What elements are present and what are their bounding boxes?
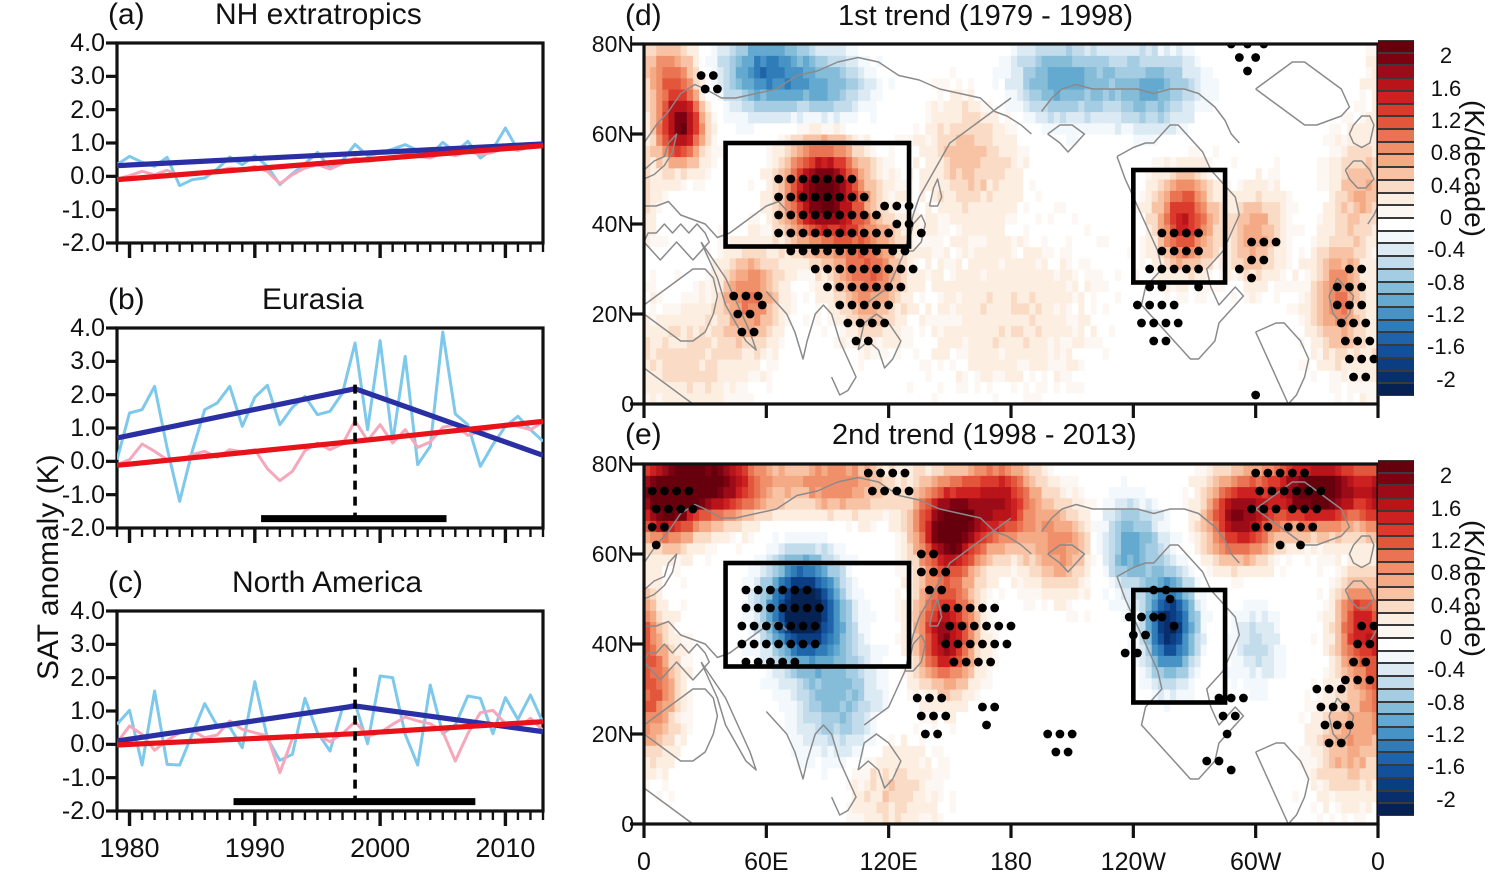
map-y-tick-label: 80N xyxy=(570,31,634,58)
colorbar-swatch xyxy=(1378,485,1414,498)
colorbar-swatch xyxy=(1378,332,1414,345)
colorbar-swatch xyxy=(1378,473,1414,486)
colorbar-swatch xyxy=(1378,371,1414,384)
y-tick-label: 3.0 xyxy=(30,347,105,376)
colorbar-swatch xyxy=(1378,562,1414,575)
colorbar-tick-label: 0 xyxy=(1424,625,1468,651)
map-y-tick-label: 60N xyxy=(570,541,634,568)
colorbar-tick-label: 1.2 xyxy=(1424,108,1468,134)
colorbar-swatch xyxy=(1378,65,1414,78)
y-tick-label: 2.0 xyxy=(30,664,105,693)
y-tick-label: -2.0 xyxy=(30,229,105,258)
panel-e-map xyxy=(600,450,1380,864)
map-x-tick-label: 60W xyxy=(1196,848,1316,877)
figure-root: SAT anomaly (K) (a) NH extratropics (b) … xyxy=(0,0,1501,864)
map-x-tick-label: 120E xyxy=(829,848,949,877)
colorbar-swatch xyxy=(1378,791,1414,804)
colorbar-tick-label: 1.6 xyxy=(1424,496,1468,522)
map-y-tick-label: 0 xyxy=(570,391,634,418)
colorbar-swatch xyxy=(1378,524,1414,537)
colorbar-swatch xyxy=(1378,282,1414,295)
map-y-tick-label: 20N xyxy=(570,301,634,328)
y-tick-label: 1.0 xyxy=(30,414,105,443)
y-tick-label: -1.0 xyxy=(30,196,105,225)
map-y-tick-label: 80N xyxy=(570,451,634,478)
colorbar-swatch xyxy=(1378,53,1414,66)
colorbar-swatch xyxy=(1378,511,1414,524)
colorbar-tick-label: -1.6 xyxy=(1424,754,1468,780)
colorbar-swatch xyxy=(1378,116,1414,129)
y-tick-label: -1.0 xyxy=(30,764,105,793)
y-tick-label: 2.0 xyxy=(30,381,105,410)
colorbar-swatch xyxy=(1378,256,1414,269)
panel-e-title: 2nd trend (1998 - 2013) xyxy=(832,419,1137,452)
colorbar-swatch xyxy=(1378,778,1414,791)
colorbar-tick-label: 1.6 xyxy=(1424,76,1468,102)
colorbar-swatch xyxy=(1378,358,1414,371)
colorbar-swatch xyxy=(1378,78,1414,91)
colorbar-swatch xyxy=(1378,167,1414,180)
colorbar-swatch xyxy=(1378,104,1414,117)
colorbar-swatch xyxy=(1378,180,1414,193)
colorbar-swatch xyxy=(1378,383,1414,396)
y-tick-label: 3.0 xyxy=(30,62,105,91)
colorbar-swatch xyxy=(1378,752,1414,765)
colorbar-tick-label: 0 xyxy=(1424,205,1468,231)
colorbar-swatch xyxy=(1378,40,1414,53)
y-tick-label: -1.0 xyxy=(30,481,105,510)
y-tick-label: 4.0 xyxy=(30,597,105,626)
colorbar-tick-label: 0.4 xyxy=(1424,173,1468,199)
y-tick-label: 0.0 xyxy=(30,730,105,759)
colorbar-swatch xyxy=(1378,549,1414,562)
colorbar-swatch xyxy=(1378,587,1414,600)
y-tick-label: 0.0 xyxy=(30,447,105,476)
y-tick-label: 4.0 xyxy=(30,314,105,343)
colorbar-swatch xyxy=(1378,205,1414,218)
x-tick-label: 2010 xyxy=(455,833,555,864)
colorbar-tick-label: -1.2 xyxy=(1424,302,1468,328)
x-tick-label: 1990 xyxy=(205,833,305,864)
colorbar-swatch xyxy=(1378,600,1414,613)
panel-e-colorbar xyxy=(1378,460,1414,816)
colorbar-swatch xyxy=(1378,269,1414,282)
colorbar-swatch xyxy=(1378,536,1414,549)
colorbar-tick-label: -2 xyxy=(1424,787,1468,813)
colorbar-swatch xyxy=(1378,307,1414,320)
colorbar-tick-label: -0.4 xyxy=(1424,237,1468,263)
colorbar-tick-label: 2 xyxy=(1424,43,1468,69)
map-x-tick-label: 0 xyxy=(584,848,704,877)
colorbar-tick-label: 2 xyxy=(1424,463,1468,489)
colorbar-swatch xyxy=(1378,702,1414,715)
y-tick-label: 2.0 xyxy=(30,96,105,125)
colorbar-swatch xyxy=(1378,663,1414,676)
colorbar-swatch xyxy=(1378,765,1414,778)
colorbar-swatch xyxy=(1378,651,1414,664)
colorbar-tick-label: 0.8 xyxy=(1424,140,1468,166)
panel-e-tag: (e) xyxy=(625,418,662,452)
colorbar-tick-label: -1.2 xyxy=(1424,722,1468,748)
x-tick-label: 2000 xyxy=(330,833,430,864)
colorbar-swatch xyxy=(1378,689,1414,702)
colorbar-swatch xyxy=(1378,676,1414,689)
panel-d-colorbar xyxy=(1378,40,1414,396)
colorbar-swatch xyxy=(1378,727,1414,740)
colorbar-swatch xyxy=(1378,142,1414,155)
colorbar-swatch xyxy=(1378,218,1414,231)
colorbar-swatch xyxy=(1378,320,1414,333)
y-tick-label: 3.0 xyxy=(30,630,105,659)
colorbar-swatch xyxy=(1378,613,1414,626)
colorbar-tick-label: -0.4 xyxy=(1424,657,1468,683)
colorbar-swatch xyxy=(1378,345,1414,358)
colorbar-tick-label: 0.4 xyxy=(1424,593,1468,619)
colorbar-tick-label: 0.8 xyxy=(1424,560,1468,586)
colorbar-swatch xyxy=(1378,714,1414,727)
colorbar-swatch xyxy=(1378,638,1414,651)
colorbar-swatch xyxy=(1378,231,1414,244)
y-tick-label: 4.0 xyxy=(30,29,105,58)
x-tick-label: 1980 xyxy=(80,833,180,864)
colorbar-tick-label: -0.8 xyxy=(1424,270,1468,296)
colorbar-swatch xyxy=(1378,294,1414,307)
colorbar-swatch xyxy=(1378,574,1414,587)
panel-d-tag: (d) xyxy=(625,0,662,33)
colorbar-swatch xyxy=(1378,243,1414,256)
y-tick-label: 1.0 xyxy=(30,697,105,726)
colorbar-tick-label: -1.6 xyxy=(1424,334,1468,360)
map-y-tick-label: 20N xyxy=(570,721,634,748)
map-y-tick-label: 60N xyxy=(570,121,634,148)
colorbar-swatch xyxy=(1378,129,1414,142)
y-tick-label: 1.0 xyxy=(30,129,105,158)
colorbar-swatch xyxy=(1378,740,1414,753)
map-x-tick-label: 0 xyxy=(1318,848,1438,877)
map-y-tick-label: 40N xyxy=(570,631,634,658)
y-tick-label: 0.0 xyxy=(30,162,105,191)
map-x-tick-label: 120W xyxy=(1073,848,1193,877)
map-y-tick-label: 0 xyxy=(570,811,634,838)
y-tick-label: -2.0 xyxy=(30,514,105,543)
colorbar-swatch xyxy=(1378,193,1414,206)
colorbar-swatch xyxy=(1378,91,1414,104)
colorbar-tick-label: -0.8 xyxy=(1424,690,1468,716)
colorbar-swatch xyxy=(1378,498,1414,511)
colorbar-tick-label: -2 xyxy=(1424,367,1468,393)
colorbar-swatch xyxy=(1378,460,1414,473)
map-x-tick-label: 60E xyxy=(706,848,826,877)
colorbar-swatch xyxy=(1378,625,1414,638)
map-y-tick-label: 40N xyxy=(570,211,634,238)
panel-d-map xyxy=(600,30,1380,420)
colorbar-swatch xyxy=(1378,803,1414,816)
y-tick-label: -2.0 xyxy=(30,797,105,826)
panel-d-title: 1st trend (1979 - 1998) xyxy=(838,0,1133,33)
colorbar-swatch xyxy=(1378,154,1414,167)
map-x-tick-label: 180 xyxy=(951,848,1071,877)
colorbar-tick-label: 1.2 xyxy=(1424,528,1468,554)
